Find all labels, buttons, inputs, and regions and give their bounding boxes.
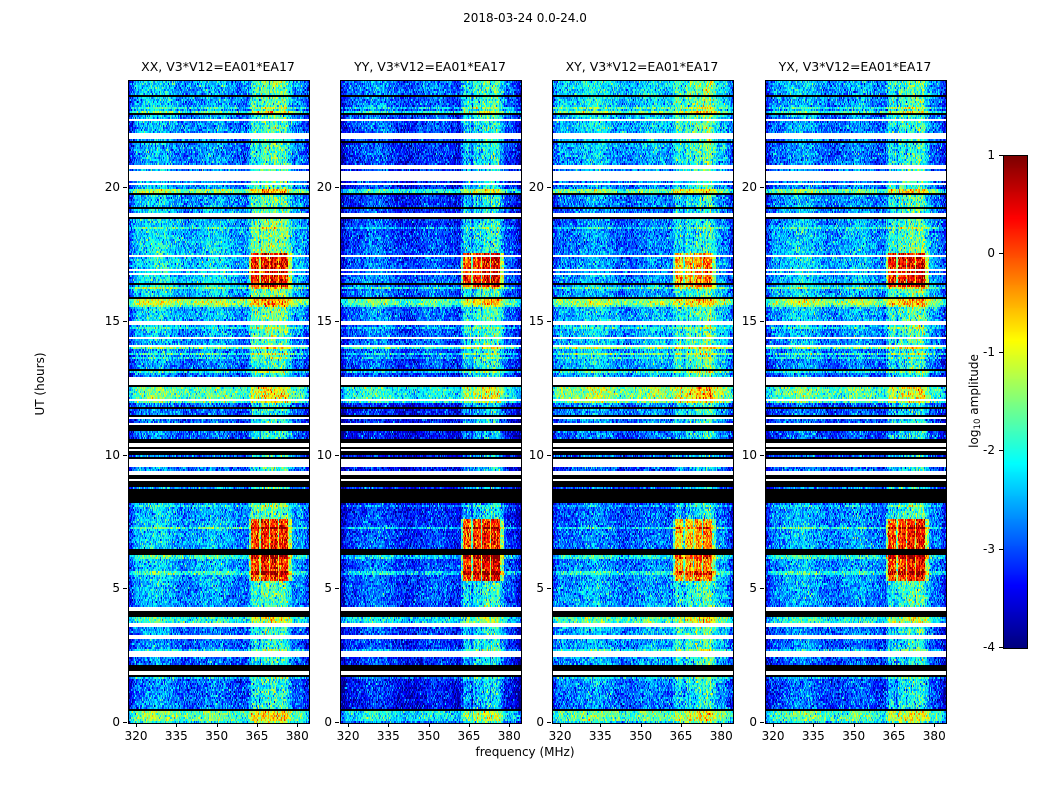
figure-suptitle: 2018-03-24 0.0-24.0 (0, 11, 1050, 25)
colorbar[interactable] (1003, 155, 1028, 649)
subplot-xy: XY, V3*V12=EA01*EA1732033535036538005101… (552, 80, 732, 722)
heatmap-canvas-yy (341, 81, 521, 723)
y-tick-label: 20 (80, 180, 120, 194)
colorbar-tick-label: -4 (955, 640, 995, 654)
x-tick-label: 380 (498, 729, 521, 743)
figure-canvas: 2018-03-24 0.0-24.0 XX, V3*V12=EA01*EA17… (0, 0, 1050, 800)
y-tick-mark (760, 588, 764, 589)
y-tick-label: 20 (504, 180, 544, 194)
y-tick-mark (760, 187, 764, 188)
heatmap-yx[interactable] (765, 80, 947, 724)
colorbar-tick-mark (999, 450, 1003, 451)
y-tick-label: 0 (292, 715, 332, 729)
y-tick-label: 5 (717, 581, 757, 595)
y-tick-mark (123, 187, 127, 188)
x-tick-mark (600, 723, 601, 727)
y-tick-label: 0 (504, 715, 544, 729)
colorbar-tick-mark (999, 155, 1003, 156)
x-tick-label: 350 (629, 729, 652, 743)
y-tick-label: 15 (717, 314, 757, 328)
x-tick-mark (894, 723, 895, 727)
y-tick-mark (547, 187, 551, 188)
x-tick-mark (681, 723, 682, 727)
colorbar-label-main: log (967, 430, 981, 448)
x-axis-label: frequency (MHz) (0, 745, 1050, 759)
y-tick-mark (547, 321, 551, 322)
y-tick-label: 0 (80, 715, 120, 729)
x-tick-mark (348, 723, 349, 727)
subplot-title-xy: XY, V3*V12=EA01*EA17 (552, 59, 732, 74)
x-tick-label: 365 (246, 729, 269, 743)
heatmap-canvas-yx (766, 81, 946, 723)
x-tick-label: 350 (417, 729, 440, 743)
y-tick-mark (760, 321, 764, 322)
x-tick-mark (813, 723, 814, 727)
y-tick-mark (335, 321, 339, 322)
subplot-title-yx: YX, V3*V12=EA01*EA17 (765, 59, 945, 74)
y-tick-mark (123, 321, 127, 322)
y-tick-label: 15 (292, 314, 332, 328)
y-tick-mark (547, 455, 551, 456)
y-tick-mark (335, 187, 339, 188)
y-tick-label: 15 (80, 314, 120, 328)
colorbar-tick-mark (999, 549, 1003, 550)
colorbar-tick-mark (999, 352, 1003, 353)
x-tick-mark (560, 723, 561, 727)
x-tick-mark (773, 723, 774, 727)
y-tick-label: 10 (504, 448, 544, 462)
x-tick-label: 380 (286, 729, 309, 743)
y-tick-label: 10 (292, 448, 332, 462)
heatmap-yy[interactable] (340, 80, 522, 724)
colorbar-label-subscript: 10 (973, 419, 983, 430)
y-tick-mark (760, 722, 764, 723)
x-tick-label: 365 (670, 729, 693, 743)
colorbar-tick-mark (999, 253, 1003, 254)
y-tick-label: 20 (717, 180, 757, 194)
y-tick-mark (335, 722, 339, 723)
x-tick-mark (429, 723, 430, 727)
y-axis-label: UT (hours) (33, 314, 47, 454)
colorbar-label-tail: amplitude (967, 354, 981, 418)
heatmap-xy[interactable] (552, 80, 734, 724)
x-tick-label: 335 (165, 729, 188, 743)
subplot-yy: YY, V3*V12=EA01*EA1732033535036538005101… (340, 80, 520, 722)
y-tick-label: 5 (80, 581, 120, 595)
colorbar-gradient (1004, 156, 1027, 648)
y-tick-mark (547, 588, 551, 589)
y-tick-mark (547, 722, 551, 723)
colorbar-tick-label: 1 (955, 148, 995, 162)
y-tick-label: 10 (717, 448, 757, 462)
x-tick-mark (217, 723, 218, 727)
x-tick-label: 335 (589, 729, 612, 743)
subplot-xx: XX, V3*V12=EA01*EA1732033535036538005101… (128, 80, 308, 722)
x-tick-mark (257, 723, 258, 727)
y-tick-mark (123, 588, 127, 589)
colorbar-tick-label: 0 (955, 246, 995, 260)
heatmap-canvas-xy (553, 81, 733, 723)
y-tick-label: 10 (80, 448, 120, 462)
x-tick-mark (388, 723, 389, 727)
colorbar-label: log10 amplitude (967, 321, 983, 481)
x-tick-label: 335 (377, 729, 400, 743)
x-tick-mark (136, 723, 137, 727)
x-tick-label: 380 (923, 729, 946, 743)
x-tick-mark (469, 723, 470, 727)
colorbar-tick-label: -3 (955, 542, 995, 556)
x-tick-label: 365 (458, 729, 481, 743)
x-tick-label: 320 (125, 729, 148, 743)
subplot-title-xx: XX, V3*V12=EA01*EA17 (128, 59, 308, 74)
x-tick-label: 365 (883, 729, 906, 743)
x-tick-label: 350 (205, 729, 228, 743)
x-tick-label: 380 (710, 729, 733, 743)
y-tick-label: 15 (504, 314, 544, 328)
x-tick-label: 320 (337, 729, 360, 743)
subplot-title-yy: YY, V3*V12=EA01*EA17 (340, 59, 520, 74)
heatmap-xx[interactable] (128, 80, 310, 724)
y-tick-mark (335, 455, 339, 456)
y-tick-mark (335, 588, 339, 589)
x-tick-mark (854, 723, 855, 727)
x-tick-mark (641, 723, 642, 727)
y-tick-label: 0 (717, 715, 757, 729)
x-tick-label: 335 (802, 729, 825, 743)
y-tick-label: 5 (504, 581, 544, 595)
y-tick-label: 20 (292, 180, 332, 194)
subplot-yx: YX, V3*V12=EA01*EA1732033535036538005101… (765, 80, 945, 722)
heatmap-canvas-xx (129, 81, 309, 723)
y-tick-mark (760, 455, 764, 456)
x-tick-label: 350 (842, 729, 865, 743)
x-tick-mark (176, 723, 177, 727)
x-tick-mark (934, 723, 935, 727)
colorbar-tick-mark (999, 647, 1003, 648)
y-tick-mark (123, 722, 127, 723)
y-tick-label: 5 (292, 581, 332, 595)
y-tick-mark (123, 455, 127, 456)
x-tick-label: 320 (762, 729, 785, 743)
x-tick-label: 320 (549, 729, 572, 743)
